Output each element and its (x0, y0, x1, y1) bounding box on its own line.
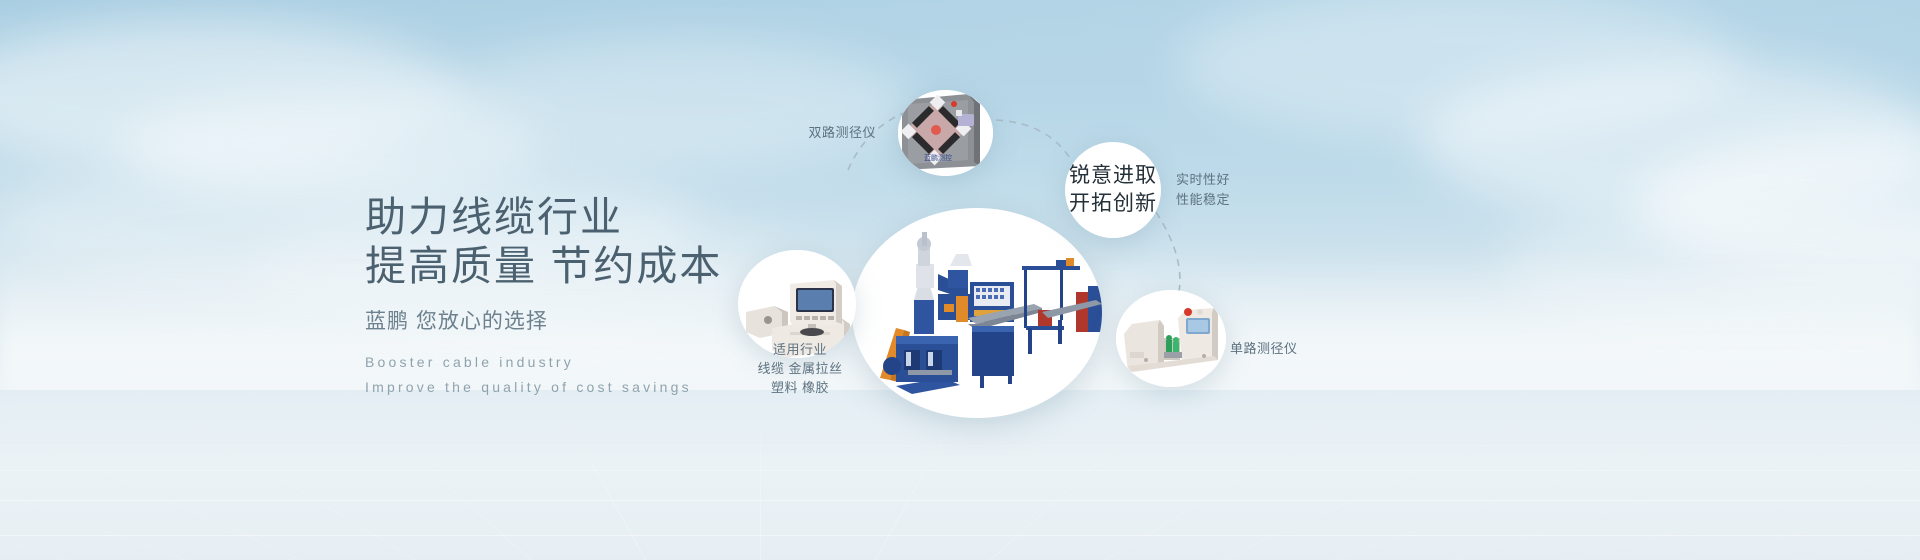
slogan-bubble: 锐意进取 开拓创新 (1065, 142, 1161, 238)
label-industry-2: 塑料 橡胶 (720, 378, 880, 397)
label-single-gauge: 单路测径仪 (1230, 339, 1298, 358)
connector-top-to-text (996, 120, 1072, 162)
hero-banner: 助力线缆行业 提高质量 节约成本 蓝鹏 您放心的选择 Booster cable… (0, 0, 1920, 560)
slogan-text: 锐意进取 开拓创新 (1069, 162, 1157, 218)
product-graphic-cluster: 蓝鹏测控 (720, 0, 1920, 560)
slogan-line-1: 锐意进取 (1069, 162, 1157, 190)
label-feature-1: 实时性好 (1176, 170, 1230, 189)
device-brand-text: 蓝鹏测控 (924, 153, 952, 162)
label-industry-1: 线缆 金属拉丝 (720, 359, 880, 378)
cloud-decoration (120, 90, 540, 200)
slogan-line-2: 开拓创新 (1069, 190, 1157, 218)
cloud-decoration (0, 20, 460, 170)
dual-gauge-illustration: 蓝鹏测控 (898, 90, 993, 176)
main-production-line-bubble (852, 208, 1102, 418)
extrusion-line-illustration (852, 208, 1102, 418)
label-feature-2: 性能稳定 (1176, 190, 1230, 209)
label-industry-title: 适用行业 (720, 340, 880, 359)
single-gauge-illustration (1116, 290, 1226, 387)
label-dual-gauge: 双路测径仪 (756, 123, 876, 142)
dual-gauge-bubble: 蓝鹏测控 (898, 90, 993, 176)
single-gauge-bubble (1116, 290, 1226, 387)
